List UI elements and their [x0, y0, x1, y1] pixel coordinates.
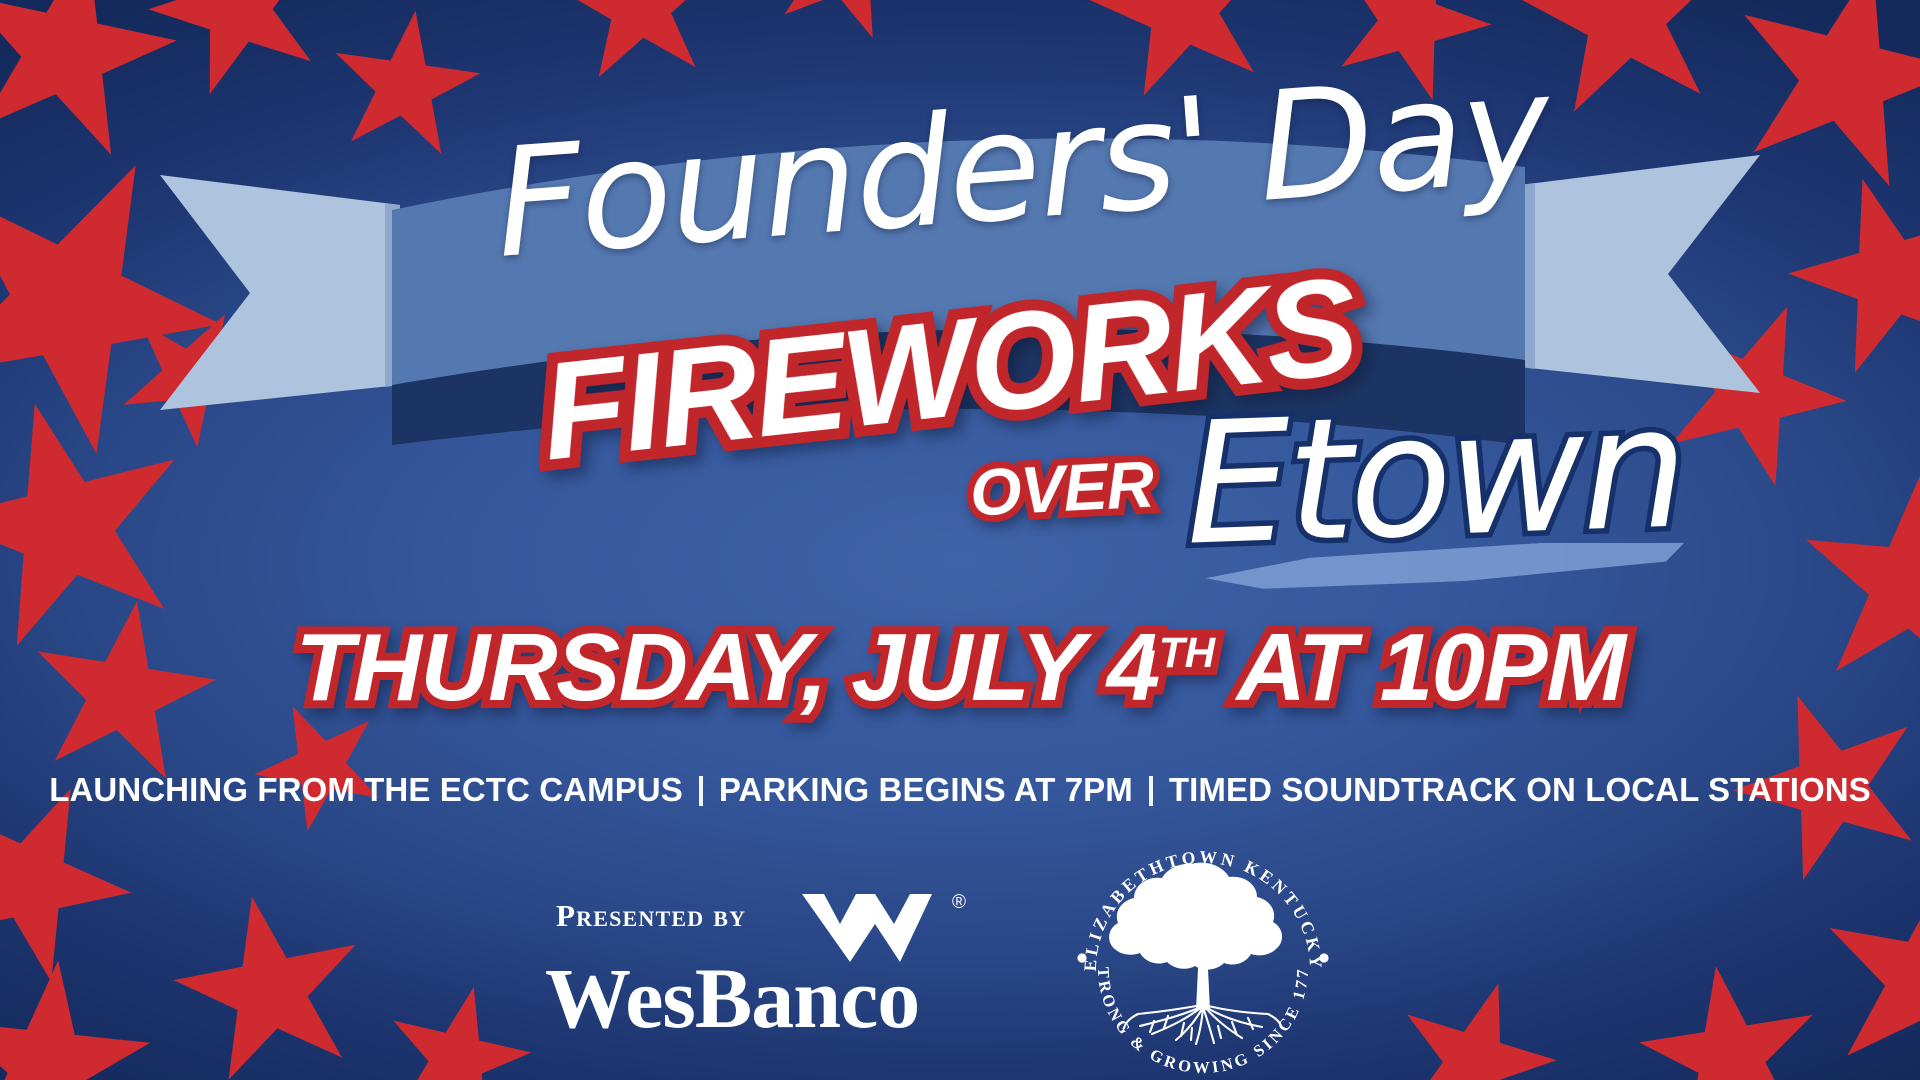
detail-separator-1	[699, 776, 703, 806]
detail-separator-2	[1149, 776, 1153, 806]
date-prefix: THURSDAY, JULY 4	[295, 614, 1158, 721]
background-star	[159, 879, 382, 1080]
wesbanco-wordmark: WesBanco	[545, 955, 919, 1041]
detail-soundtrack: TIMED SOUNDTRACK ON LOCAL STATIONS	[1169, 771, 1871, 808]
ribbon-right-tail	[1520, 155, 1760, 393]
background-star	[1803, 853, 1920, 1080]
registered-trademark-icon: ®	[952, 892, 966, 914]
date-suffix: AT 10PM	[1215, 614, 1624, 721]
elizabethtown-city-seal: ELIZABETHTOWN KENTUCKY STRONG & GROWING …	[1068, 830, 1338, 1080]
date-ordinal-suffix: TH	[1159, 629, 1215, 676]
detail-parking-time: PARKING BEGINS AT 7PM	[719, 771, 1133, 808]
headline-over: OVER	[968, 450, 1154, 525]
detail-launch-location: LAUNCHING FROM THE ECTC CAMPUS	[49, 771, 683, 808]
background-star	[371, 971, 545, 1080]
event-details-line: LAUNCHING FROM THE ECTC CAMPUSPARKING BE…	[0, 770, 1920, 810]
background-star	[0, 950, 160, 1080]
background-star	[1627, 952, 1833, 1080]
seal-right-dot	[1319, 953, 1328, 962]
background-star	[753, 0, 937, 57]
presented-by-label: Presented by	[556, 898, 746, 934]
seal-left-dot	[1077, 953, 1086, 962]
event-date-line: THURSDAY, JULY 4TH AT 10PM	[0, 620, 1920, 716]
headline-etown-script: Etown	[1182, 383, 1686, 568]
background-star	[1375, 960, 1575, 1080]
founders-day-fireworks-poster: Founders' Day FIREWORKS OVER Etown THURS…	[0, 0, 1920, 1080]
ribbon-left-tail	[160, 175, 400, 410]
